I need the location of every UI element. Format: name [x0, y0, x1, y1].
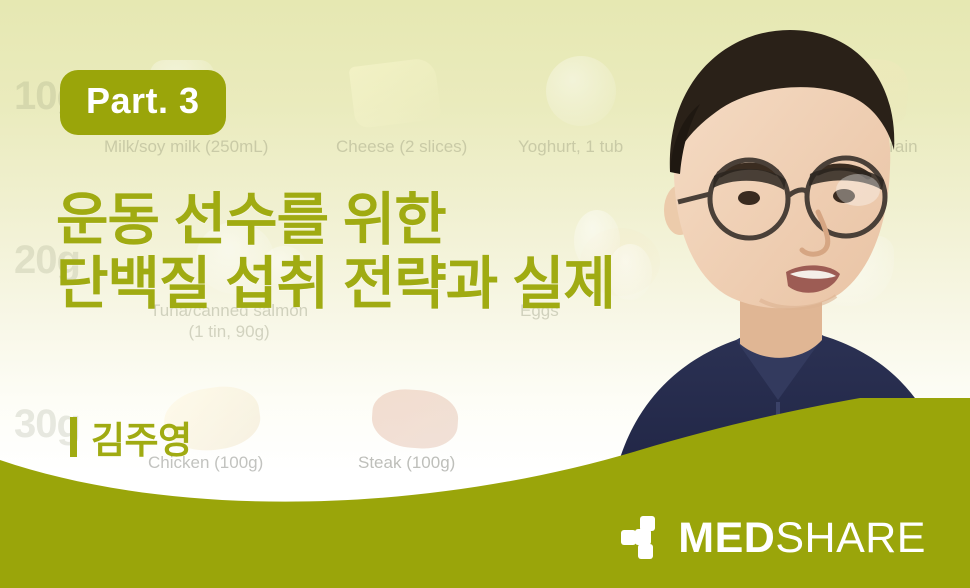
medshare-logo: MEDSHARE	[620, 512, 926, 564]
logo-text-med: MED	[678, 514, 775, 562]
medshare-cross-icon	[620, 515, 666, 561]
part-badge: Part. 3	[60, 70, 226, 135]
title-line-1: 운동 선수를 위한	[56, 188, 615, 252]
title-line-2: 단백질 섭취 전략과 실제	[56, 252, 615, 316]
food-label-milk: Milk/soy milk (250mL)	[104, 136, 268, 157]
logo-text-share: SHARE	[775, 514, 926, 562]
page-title: 운동 선수를 위한 단백질 섭취 전략과 실제	[56, 188, 615, 317]
food-label-cheese: Cheese (2 slices)	[336, 136, 467, 157]
cheese-illustration	[349, 57, 442, 129]
lecture-title-slide: 10g 20g 30g Milk/soy milk (250mL) Cheese…	[0, 0, 970, 588]
medshare-wordmark: MEDSHARE	[678, 517, 926, 560]
